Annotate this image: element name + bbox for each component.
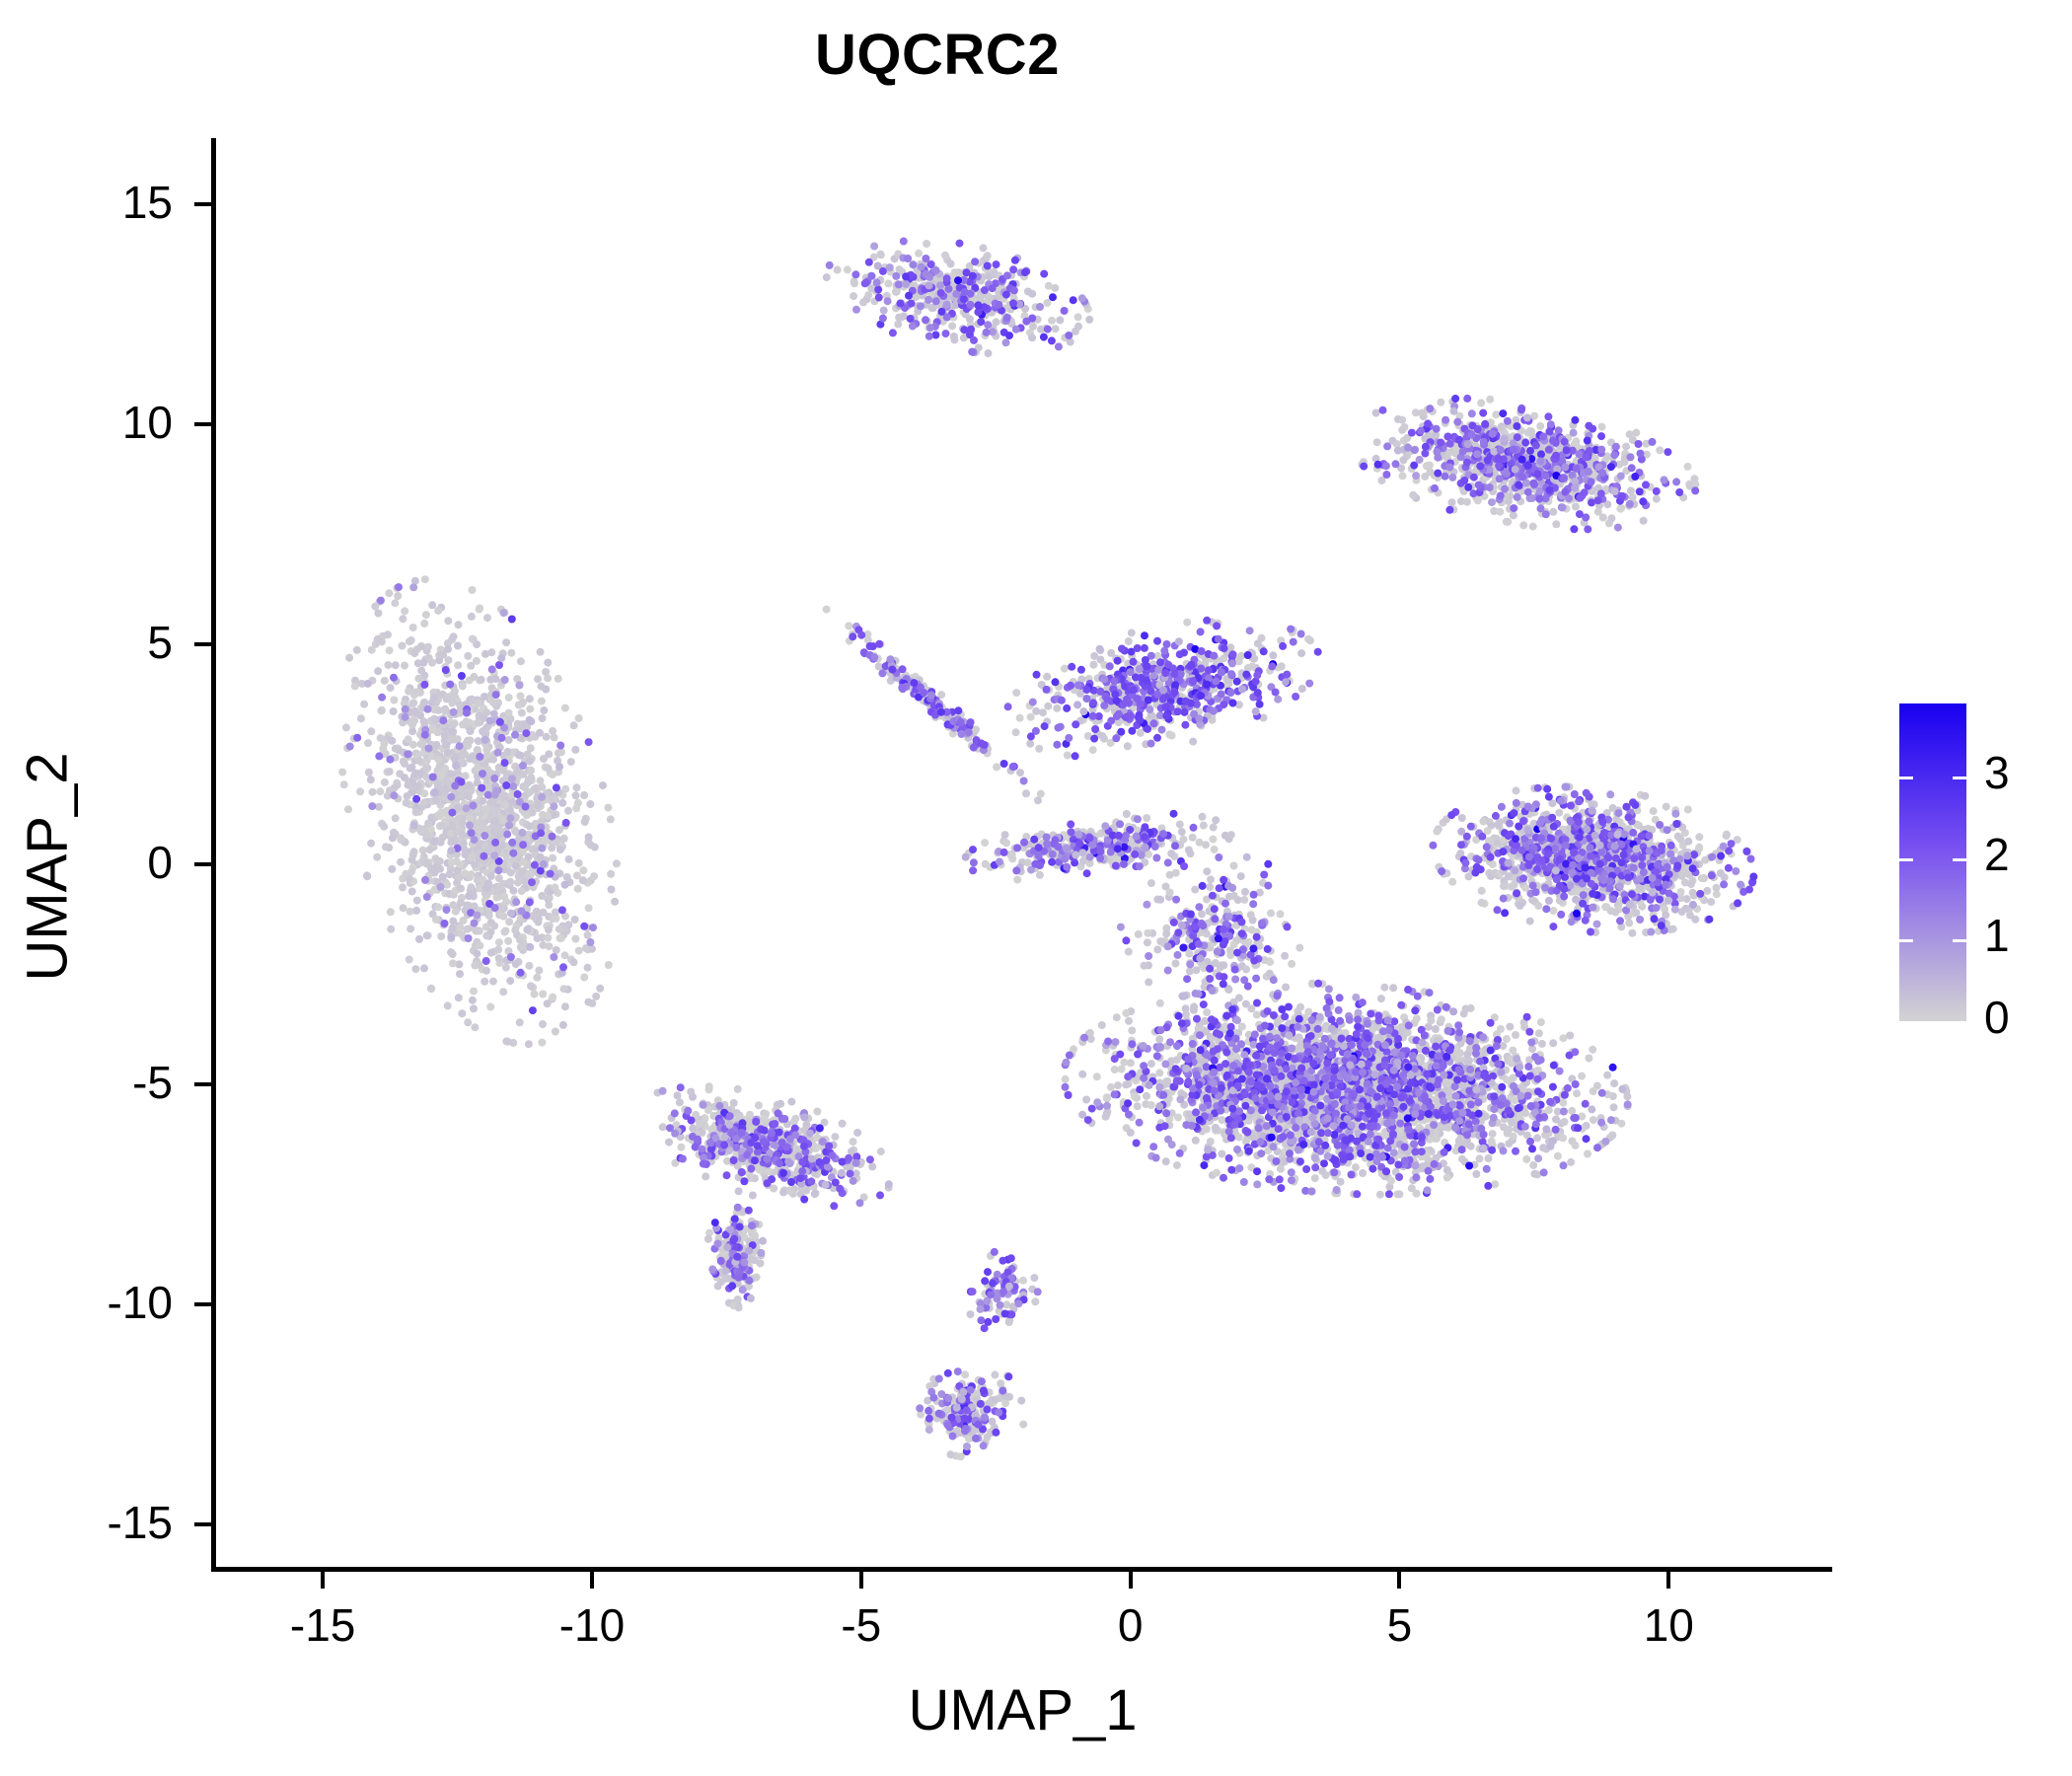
x-tick-label: -5 — [782, 1598, 940, 1652]
colorbar-tick-mark — [1953, 777, 1966, 779]
colorbar-tick-label: 2 — [1984, 832, 2010, 877]
y-tick-mark — [194, 1082, 211, 1086]
umap-feature-plot: UQCRC2 151050-5-10-15 -15-10-50510 UMAP_… — [0, 0, 2072, 1776]
y-tick-label: 15 — [54, 176, 173, 229]
colorbar-tick-mark — [1953, 858, 1966, 861]
x-tick-label: -15 — [244, 1598, 402, 1652]
colorbar-gradient[interactable] — [1899, 703, 1966, 1021]
x-axis-line — [211, 1567, 1832, 1572]
x-tick-label: -10 — [513, 1598, 671, 1652]
y-axis-line — [211, 138, 216, 1571]
page-title: UQCRC2 — [0, 22, 1875, 88]
y-tick-mark — [194, 202, 211, 206]
y-tick-mark — [194, 1522, 211, 1526]
colorbar-tick-mark — [1899, 777, 1913, 779]
y-tick-mark — [194, 1302, 211, 1306]
x-tick-label: 5 — [1320, 1598, 1478, 1652]
plot-panel — [215, 138, 1830, 1569]
y-tick-label: -10 — [54, 1276, 173, 1329]
x-tick-mark — [1129, 1572, 1133, 1589]
x-tick-mark — [590, 1572, 594, 1589]
colorbar-tick-mark — [1899, 858, 1913, 861]
y-tick-mark — [194, 862, 211, 866]
colorbar-tick-label: 0 — [1984, 995, 2010, 1040]
colorbar-tick-label: 3 — [1984, 750, 2010, 795]
x-tick-mark — [1397, 1572, 1401, 1589]
x-tick-label: 10 — [1590, 1598, 1747, 1652]
x-axis-title: UMAP_1 — [215, 1677, 1830, 1743]
y-tick-mark — [194, 422, 211, 426]
x-tick-mark — [321, 1572, 325, 1589]
x-tick-mark — [1666, 1572, 1670, 1589]
x-tick-mark — [859, 1572, 863, 1589]
y-tick-label: -15 — [54, 1496, 173, 1549]
scatter-points-layer — [215, 138, 1830, 1569]
x-tick-label: 0 — [1052, 1598, 1210, 1652]
y-tick-label: 10 — [54, 396, 173, 449]
y-axis-title: UMAP_2 — [15, 591, 81, 1144]
colorbar-tick-mark — [1953, 939, 1966, 942]
colorbar-tick-label: 1 — [1984, 913, 2010, 958]
colorbar-legend[interactable]: 3210 — [1899, 703, 2057, 1029]
colorbar-tick-mark — [1899, 939, 1913, 942]
y-tick-mark — [194, 642, 211, 646]
